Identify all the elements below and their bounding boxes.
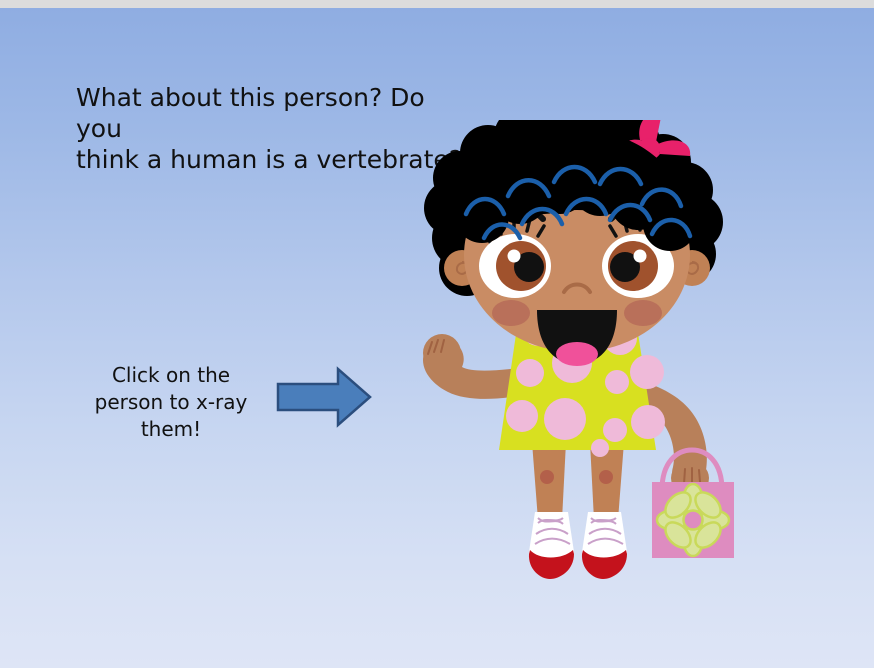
left-eye <box>479 234 551 298</box>
shoes <box>529 512 627 579</box>
arrow-shape <box>278 369 370 425</box>
tongue <box>556 342 598 366</box>
cartoon-girl-figure[interactable] <box>404 120 754 590</box>
left-cheek <box>492 300 530 326</box>
top-gray-strip <box>0 0 874 8</box>
instruction-text: Click on the person to x-ray them! <box>76 362 266 443</box>
slide-canvas: What about this person? Do you think a h… <box>0 0 874 668</box>
right-arrow-icon[interactable] <box>276 366 372 428</box>
right-cheek <box>624 300 662 326</box>
legs <box>532 442 624 520</box>
